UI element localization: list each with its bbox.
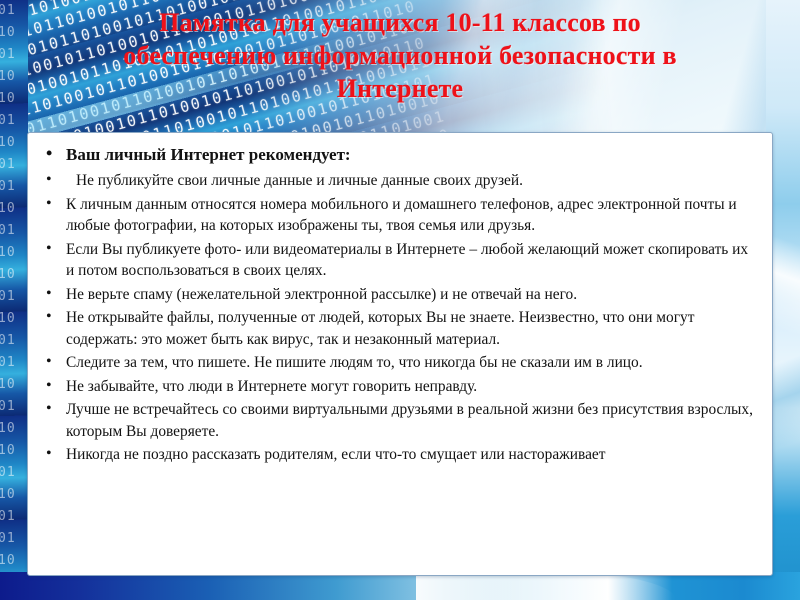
- bottom-gradient-band: [0, 572, 800, 600]
- list-item-text: Ваш личный Интернет рекомендует:: [66, 145, 351, 164]
- list-item-text: Не забывайте, что люди в Интернете могут…: [66, 378, 477, 395]
- left-strip-digits: 01 10 01 10 10 01 10 01 01 10 01 10 10 0…: [0, 0, 16, 594]
- list-item-text: Не открывайте файлы, полученные от людей…: [66, 309, 694, 348]
- left-edge-strip: 01 10 01 10 10 01 10 01 01 10 01 10 10 0…: [0, 0, 28, 600]
- list-item: Не открывайте файлы, полученные от людей…: [42, 307, 758, 350]
- list-item-text: Если Вы публикуете фото- или видеоматери…: [66, 241, 748, 280]
- list-item: Лучше не встречайтесь со своими виртуаль…: [42, 399, 758, 442]
- slide: 0101101001010010110100101101001011010010…: [0, 0, 800, 600]
- list-item: Не забывайте, что люди в Интернете могут…: [42, 376, 758, 398]
- list-item: Никогда не поздно рассказать родителям, …: [42, 444, 758, 466]
- list-item: Если Вы публикуете фото- или видеоматери…: [42, 239, 758, 282]
- list-item-text: Не публикуйте свои личные данные и личны…: [66, 170, 523, 192]
- list-item-text: Следите за тем, что пишете. Не пишите лю…: [66, 354, 643, 371]
- content-card: Ваш личный Интернет рекомендует:Не публи…: [27, 132, 773, 576]
- list-item: Не публикуйте свои личные данные и личны…: [42, 170, 758, 192]
- recommendations-list: Ваш личный Интернет рекомендует:Не публи…: [28, 133, 772, 466]
- list-item-text: Никогда не поздно рассказать родителям, …: [66, 446, 605, 463]
- list-item-text: К личным данным относятся номера мобильн…: [66, 196, 737, 235]
- list-item-text: Не верьте спаму (нежелательной электронн…: [66, 286, 577, 303]
- slide-title: Памятка для учащихся 10-11 классов по об…: [100, 6, 700, 105]
- list-item: Ваш личный Интернет рекомендует:: [42, 142, 758, 167]
- list-item-text: Лучше не встречайтесь со своими виртуаль…: [66, 401, 753, 440]
- list-item: К личным данным относятся номера мобильн…: [42, 194, 758, 237]
- list-item: Следите за тем, что пишете. Не пишите лю…: [42, 352, 758, 374]
- list-item: Не верьте спаму (нежелательной электронн…: [42, 284, 758, 306]
